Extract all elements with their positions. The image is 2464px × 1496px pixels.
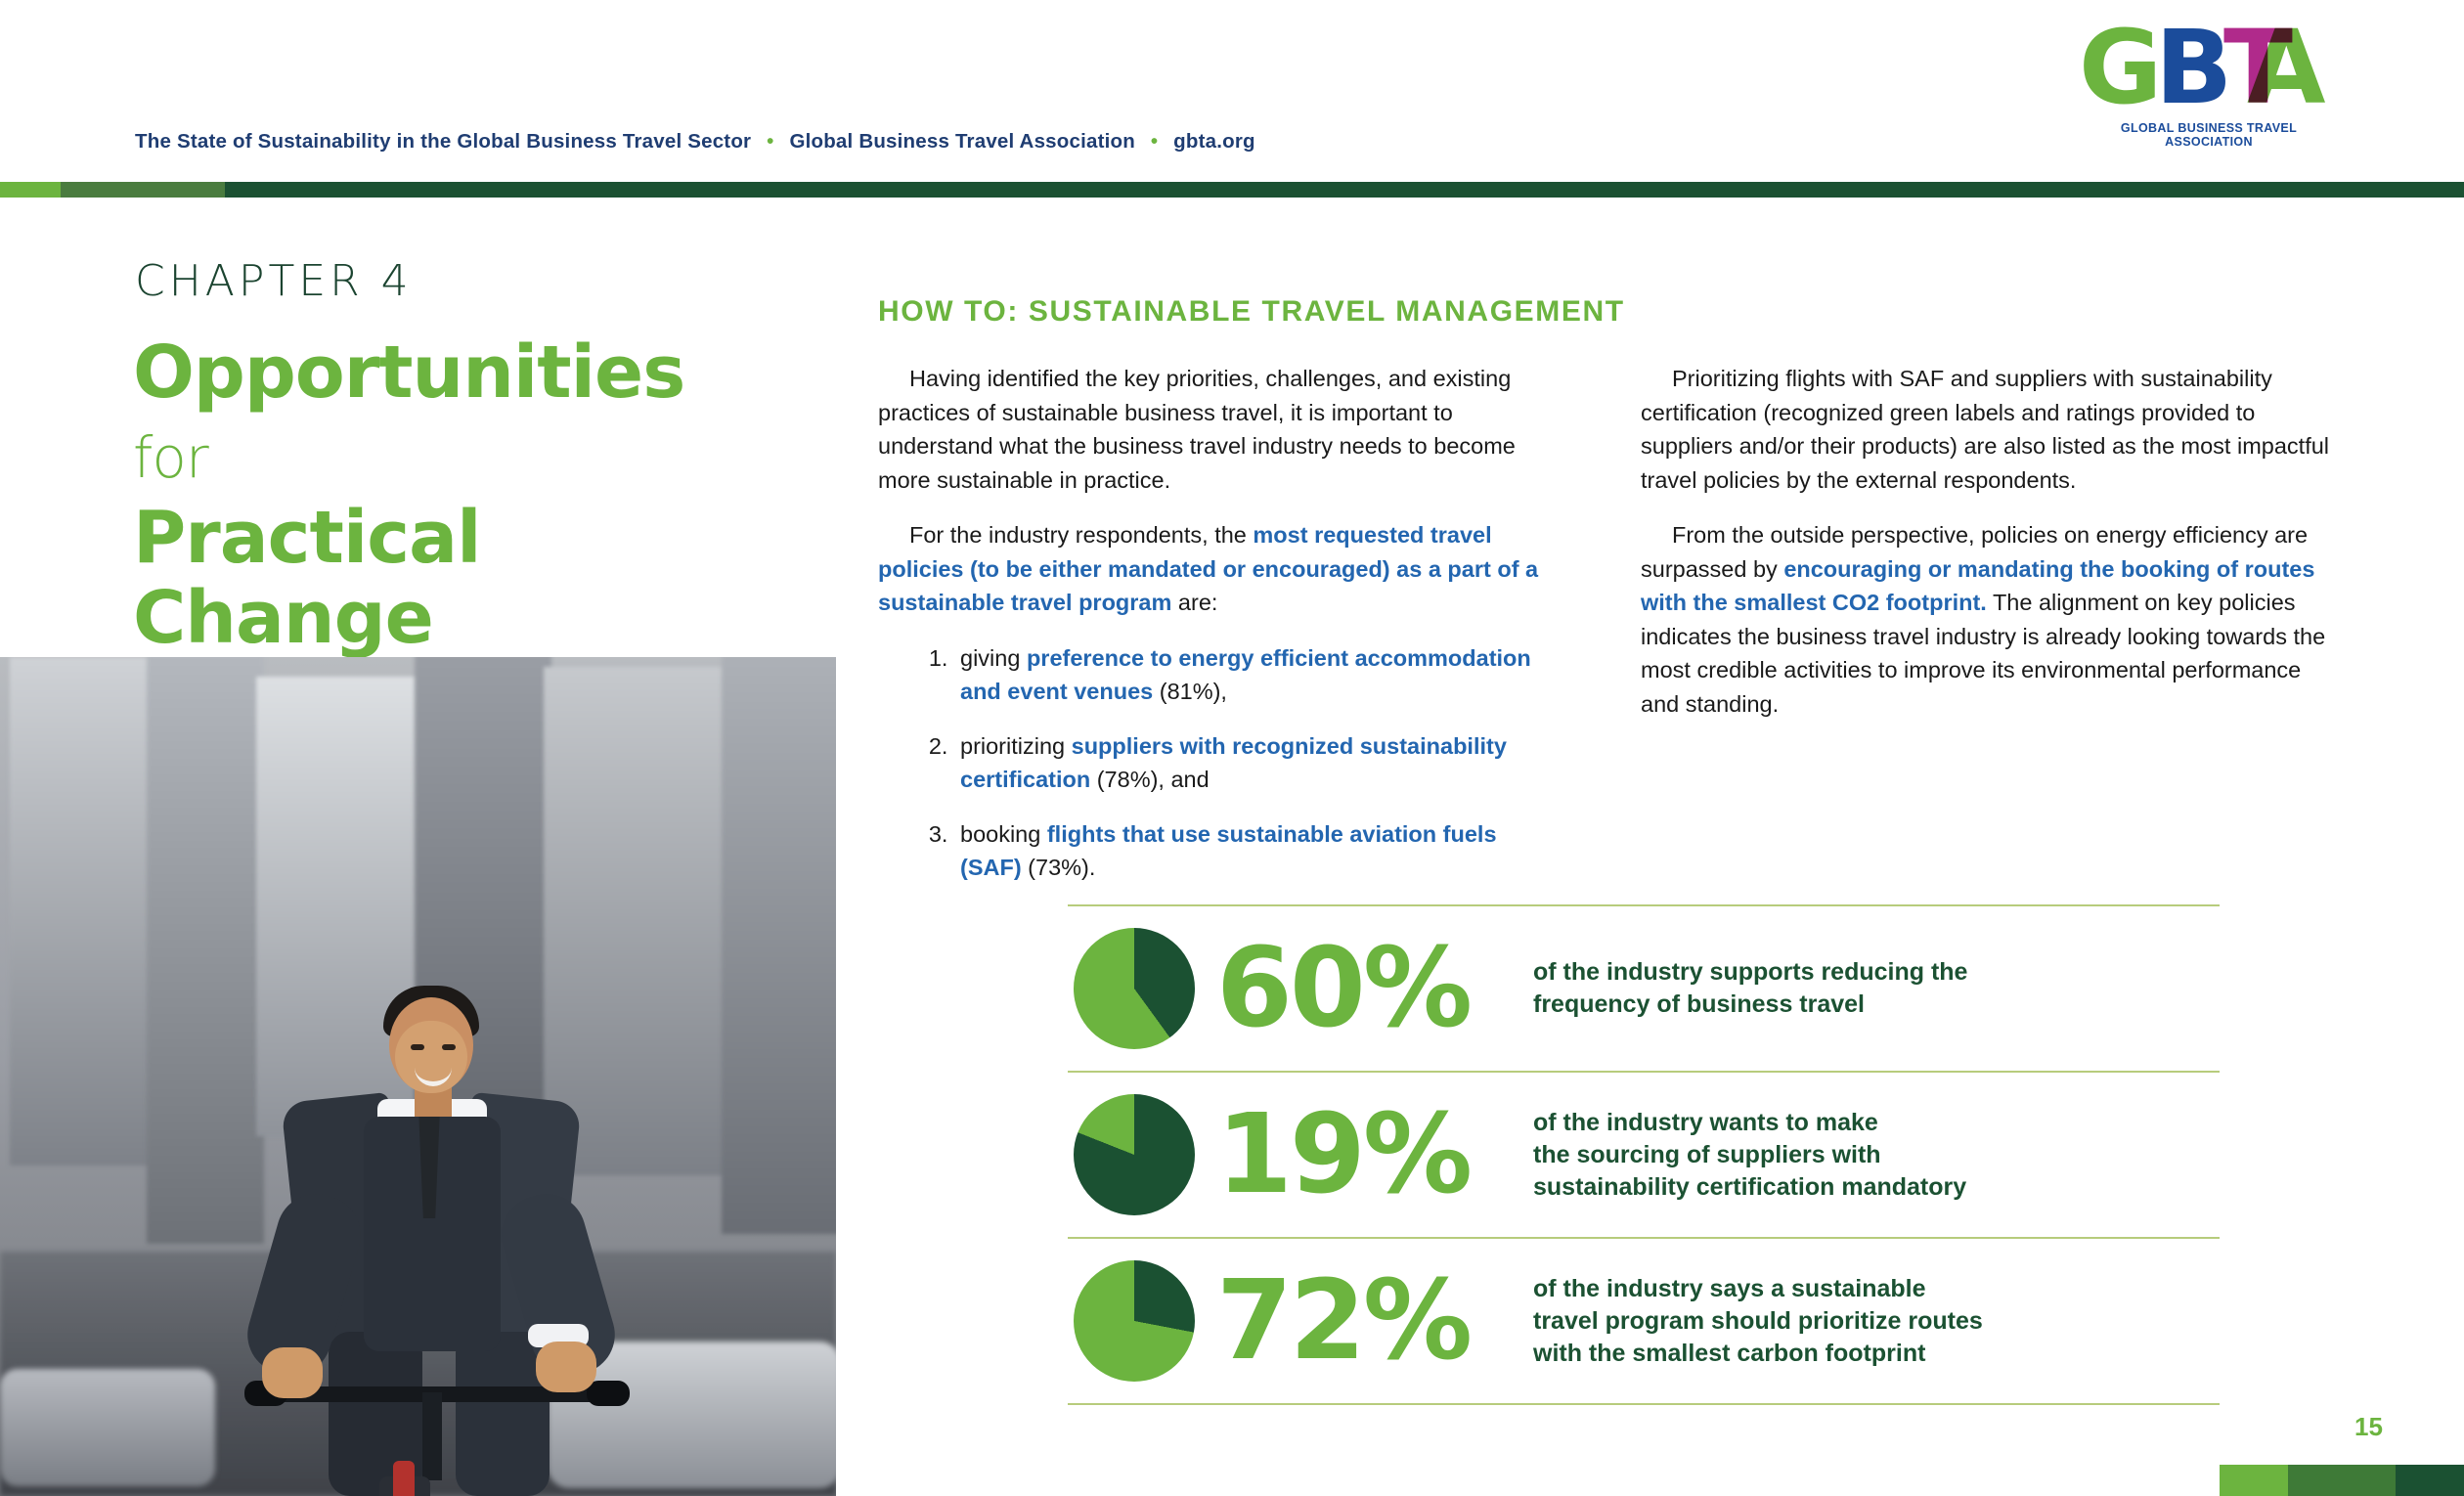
list-item-post: (78%), and bbox=[1090, 767, 1209, 792]
pie-chart-72 bbox=[1074, 1260, 1195, 1382]
list-item-pre: giving bbox=[960, 645, 1027, 671]
stat-percent: 60% bbox=[1216, 934, 1510, 1043]
bottom-rule-segment-dark bbox=[2396, 1465, 2464, 1496]
list-item: giving preference to energy efficient ac… bbox=[954, 641, 1562, 709]
paragraph-left-2-pre: For the industry respondents, the bbox=[909, 522, 1253, 548]
pie-chart-60 bbox=[1074, 928, 1195, 1049]
stat-divider bbox=[1068, 1403, 2220, 1405]
stat-row: 19% of the industry wants to make the so… bbox=[1068, 1073, 2220, 1237]
photo-cyclist-hand-left bbox=[262, 1347, 323, 1398]
list-item: prioritizing suppliers with recognized s… bbox=[954, 729, 1562, 797]
list-item-highlight: preference to energy efficient accommoda… bbox=[960, 645, 1531, 705]
stat-percent: 72% bbox=[1216, 1266, 1510, 1376]
stat-description-line: of the industry says a sustainable bbox=[1533, 1273, 2220, 1305]
photo-cyclist-eye bbox=[442, 1044, 456, 1050]
photo-building bbox=[147, 657, 264, 1244]
chapter-title-practical: Practical bbox=[133, 496, 480, 580]
page-number: 15 bbox=[2354, 1412, 2383, 1442]
gbta-logo: G B T A GLOBAL BUSINESS TRAVEL ASSOCIATI… bbox=[2081, 23, 2337, 145]
paragraph-left-1: Having identified the key priorities, ch… bbox=[878, 362, 1562, 497]
paragraph-right-2: From the outside perspective, policies o… bbox=[1641, 518, 2337, 721]
stat-row: 60% of the industry supports reducing th… bbox=[1068, 906, 2220, 1071]
bottom-rule-segment-light bbox=[2220, 1465, 2288, 1496]
list-item-pre: prioritizing bbox=[960, 733, 1072, 759]
running-head: The State of Sustainability in the Globa… bbox=[135, 130, 1255, 154]
photo-bike-stem bbox=[422, 1392, 442, 1480]
cyclist-photo bbox=[0, 657, 836, 1496]
logo-letter-t: T bbox=[2223, 20, 2293, 115]
photo-bike-fork bbox=[393, 1461, 415, 1496]
rule-segment-dark bbox=[225, 182, 2464, 198]
stat-description: of the industry supports reducing the fr… bbox=[1533, 956, 2220, 1021]
stat-description-line: travel program should prioritize routes bbox=[1533, 1305, 2220, 1338]
stat-description-line: the sourcing of suppliers with bbox=[1533, 1139, 2220, 1171]
section-heading: HOW TO: SUSTAINABLE TRAVEL MANAGEMENT bbox=[878, 295, 1625, 329]
stat-description-line: frequency of business travel bbox=[1533, 989, 2220, 1021]
stat-description: of the industry wants to make the sourci… bbox=[1533, 1107, 2220, 1204]
bottom-divider-rule bbox=[2220, 1465, 2464, 1496]
running-head-title: The State of Sustainability in the Globa… bbox=[135, 130, 751, 153]
pie-chart-19 bbox=[1074, 1094, 1195, 1215]
stat-description: of the industry says a sustainable trave… bbox=[1533, 1273, 2220, 1370]
rule-segment-light bbox=[0, 182, 61, 198]
chapter-title-for: for bbox=[133, 424, 208, 491]
stat-description-line: of the industry wants to make bbox=[1533, 1107, 2220, 1139]
list-item-pre: booking bbox=[960, 821, 1047, 847]
list-item-post: (81%), bbox=[1153, 679, 1227, 704]
chapter-eyebrow: CHAPTER 4 bbox=[135, 256, 413, 306]
photo-building bbox=[544, 667, 729, 1175]
paragraph-left-2-post: are: bbox=[1171, 590, 1217, 615]
photo-handlebar-grip bbox=[587, 1381, 630, 1406]
gbta-logo-letters: G B T A bbox=[2081, 23, 2337, 119]
chapter-title-line-3: Change bbox=[133, 578, 544, 658]
bottom-rule-segment-mid bbox=[2288, 1465, 2396, 1496]
paragraph-left-2: For the industry respondents, the most r… bbox=[878, 518, 1562, 620]
stat-row: 72% of the industry says a sustainable t… bbox=[1068, 1239, 2220, 1403]
list-item: booking flights that use sustainable avi… bbox=[954, 817, 1562, 885]
rule-segment-mid bbox=[61, 182, 225, 198]
statistics-panel: 60% of the industry supports reducing th… bbox=[1068, 904, 2220, 1405]
body-column-left: Having identified the key priorities, ch… bbox=[878, 362, 1562, 905]
logo-letter-g: G bbox=[2079, 20, 2162, 115]
chapter-title-line-1: Opportunities bbox=[133, 332, 544, 413]
photo-building bbox=[722, 657, 836, 1234]
paragraph-right-1: Prioritizing flights with SAF and suppli… bbox=[1641, 362, 2337, 497]
body-column-right: Prioritizing flights with SAF and suppli… bbox=[1641, 362, 2337, 742]
policy-list: giving preference to energy efficient ac… bbox=[878, 641, 1562, 885]
photo-cyclist-eye bbox=[411, 1044, 424, 1050]
chapter-title: Opportunities for Practical Change bbox=[133, 332, 544, 658]
stat-description-line: of the industry supports reducing the bbox=[1533, 956, 2220, 989]
running-head-url: gbta.org bbox=[1173, 130, 1255, 153]
stat-description-line: sustainability certification mandatory bbox=[1533, 1171, 2220, 1204]
running-head-org: Global Business Travel Association bbox=[789, 130, 1135, 153]
top-divider-rule bbox=[0, 182, 2464, 198]
photo-building bbox=[10, 657, 156, 1166]
chapter-title-line-2: for Practical bbox=[133, 413, 544, 578]
stat-percent: 19% bbox=[1216, 1100, 1510, 1210]
list-item-post: (73%). bbox=[1022, 855, 1096, 880]
stat-description-line: with the smallest carbon footprint bbox=[1533, 1338, 2220, 1370]
photo-cyclist-hand-right bbox=[536, 1342, 596, 1392]
logo-letter-b: B bbox=[2155, 20, 2232, 115]
photo-vehicle bbox=[0, 1369, 215, 1486]
running-head-separator-1: • bbox=[757, 130, 783, 153]
running-head-separator-2: • bbox=[1141, 130, 1167, 153]
